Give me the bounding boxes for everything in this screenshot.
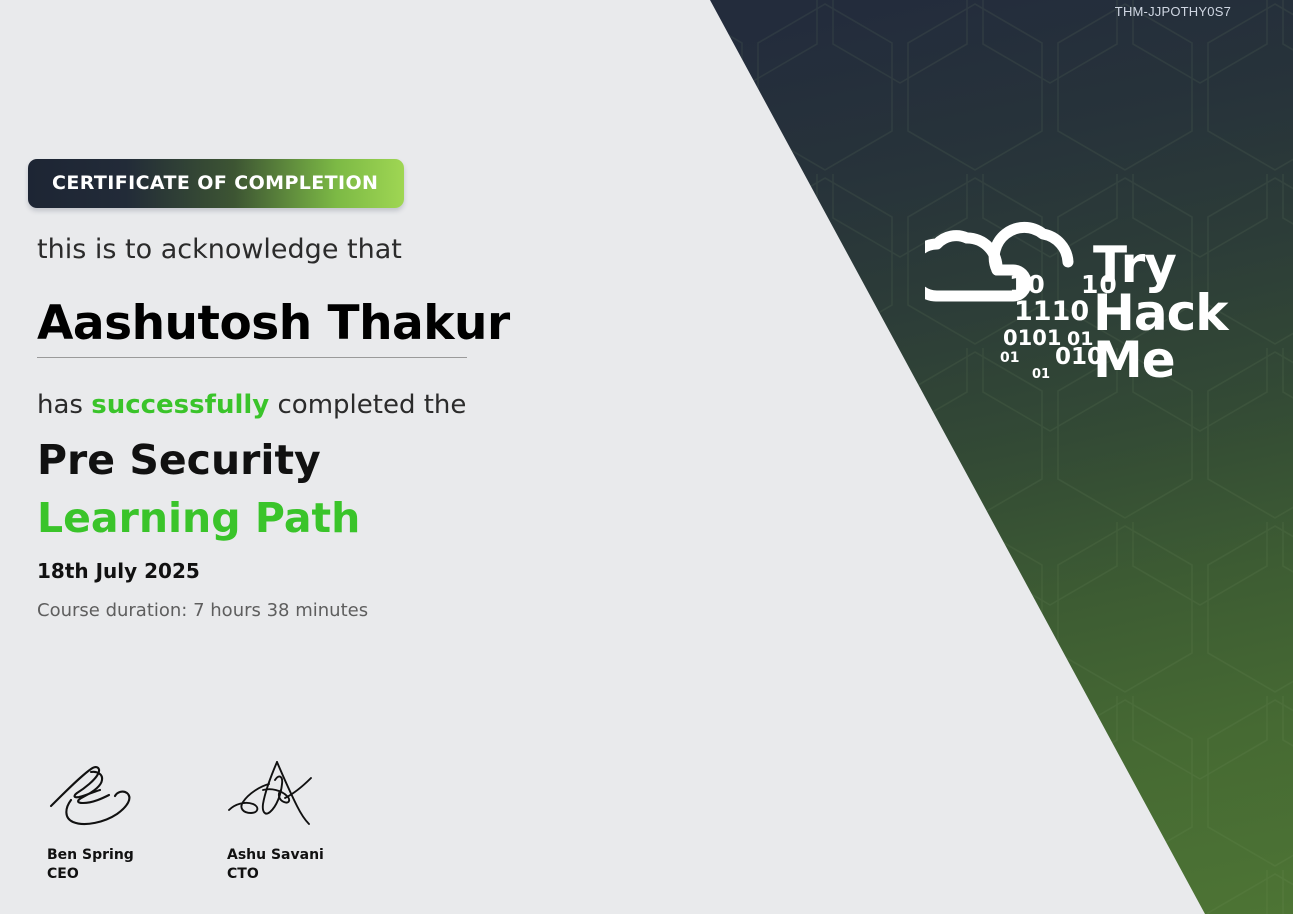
signatory-role: CEO [47, 865, 157, 884]
recipient-underline [37, 357, 467, 358]
course-name-line1: Pre Security [37, 436, 321, 484]
course-duration: Course duration: 7 hours 38 minutes [37, 600, 368, 621]
wordmark-line-hack: Hack [1093, 290, 1227, 338]
logo-wordmark: Try Hack Me [1093, 242, 1227, 385]
acknowledge-text: this is to acknowledge that [37, 234, 402, 265]
tryhackme-logo: 10 10 1110 0101 01 01 010 01 Try Hack Me [925, 212, 1245, 387]
binary-digit: 0101 [1003, 328, 1061, 349]
wordmark-line-try: Try [1093, 242, 1227, 290]
signature-ashu-savani [227, 760, 337, 830]
course-name-line2: Learning Path [37, 494, 360, 542]
binary-digit: 1110 [1014, 298, 1089, 325]
signature-block-cto: Ashu Savani CTO [227, 760, 337, 884]
signatory-name: Ashu Savani [227, 846, 337, 865]
binary-digit: 01 [1000, 351, 1019, 365]
binary-digit: 01 [1032, 368, 1050, 381]
completed-suffix: completed the [269, 390, 466, 420]
completion-date: 18th July 2025 [37, 559, 200, 583]
certificate: THM-JJPOTHY0S7 10 10 1110 0101 01 01 010… [0, 0, 1293, 914]
signatory-role: CTO [227, 865, 337, 884]
wordmark-line-me: Me [1093, 337, 1227, 385]
binary-digit: 10 [1009, 272, 1046, 297]
completed-prefix: has [37, 390, 91, 420]
certificate-id: THM-JJPOTHY0S7 [1115, 4, 1231, 19]
recipient-block: Aashutosh Thakur [37, 296, 510, 358]
signature-block-ceo: Ben Spring CEO [47, 760, 157, 884]
signature-ben-spring [47, 760, 157, 830]
completed-text: has successfully completed the [37, 390, 466, 420]
completed-highlight: successfully [91, 390, 269, 420]
signatory-name: Ben Spring [47, 846, 157, 865]
recipient-name: Aashutosh Thakur [37, 296, 510, 351]
completion-badge: CERTIFICATE OF COMPLETION [28, 159, 404, 208]
